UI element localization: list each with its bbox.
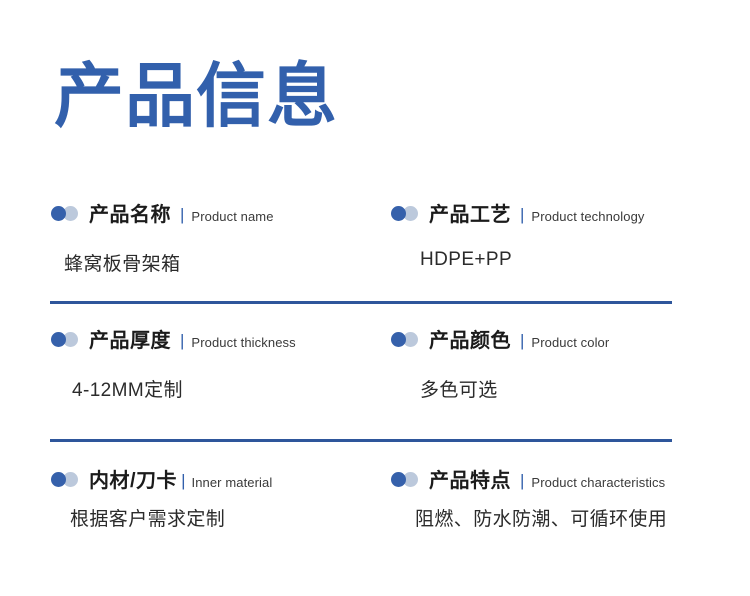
spec-label-line: 产品名称 | Product name	[50, 176, 345, 227]
label-separator: |	[520, 331, 524, 351]
spec-label-cn: 产品颜色	[429, 324, 511, 353]
spec-label-line: 产品工艺 | Product technology	[390, 176, 750, 227]
spec-item-product-thickness: 产品厚度 | Product thickness 4-12MM定制	[0, 302, 345, 440]
spec-row: 内材/刀卡 | Inner material 根据客户需求定制 产品特点 | P…	[0, 440, 750, 560]
spec-item-inner-material: 内材/刀卡 | Inner material 根据客户需求定制	[0, 440, 345, 560]
spec-label-cn: 产品工艺	[429, 198, 511, 227]
section-divider	[50, 301, 672, 304]
spec-label-en: Product technology	[531, 209, 644, 224]
spec-label-en: Product color	[531, 335, 609, 350]
spec-value: 根据客户需求定制	[50, 493, 345, 531]
spec-label-cn: 内材/刀卡	[89, 464, 177, 493]
spec-value: 多色可选	[390, 353, 750, 402]
spec-label-en: Product name	[191, 209, 273, 224]
label-separator: |	[520, 205, 524, 225]
spec-value: 4-12MM定制	[50, 353, 345, 402]
spec-item-product-characteristics: 产品特点 | Product characteristics 阻燃、防水防潮、可…	[345, 440, 750, 560]
spec-row: 产品厚度 | Product thickness 4-12MM定制 产品颜色 |…	[0, 302, 750, 440]
spec-label-en: Product thickness	[191, 335, 295, 350]
spec-label-line: 内材/刀卡 | Inner material	[50, 440, 345, 493]
section-divider	[50, 439, 672, 442]
label-separator: |	[520, 471, 524, 491]
double-circle-bullet-icon	[390, 472, 422, 487]
spec-value: 阻燃、防水防潮、可循环使用	[390, 493, 750, 531]
spec-item-product-technology: 产品工艺 | Product technology HDPE+PP	[345, 176, 750, 302]
page-title: 产品信息	[54, 52, 338, 140]
spec-item-product-color: 产品颜色 | Product color 多色可选	[345, 302, 750, 440]
label-separator: |	[180, 205, 184, 225]
double-circle-bullet-icon	[50, 472, 82, 487]
spec-label-line: 产品颜色 | Product color	[390, 302, 750, 353]
spec-value: HDPE+PP	[390, 227, 750, 271]
spec-label-line: 产品厚度 | Product thickness	[50, 302, 345, 353]
spec-value: 蜂窝板骨架箱	[50, 227, 345, 276]
spec-item-product-name: 产品名称 | Product name 蜂窝板骨架箱	[0, 176, 345, 302]
spec-label-cn: 产品厚度	[89, 324, 171, 353]
label-separator: |	[181, 471, 185, 491]
product-spec-grid: 产品名称 | Product name 蜂窝板骨架箱 产品工艺 | Produc…	[0, 176, 750, 560]
spec-row: 产品名称 | Product name 蜂窝板骨架箱 产品工艺 | Produc…	[0, 176, 750, 302]
spec-label-line: 产品特点 | Product characteristics	[390, 440, 750, 493]
double-circle-bullet-icon	[50, 206, 82, 221]
label-separator: |	[180, 331, 184, 351]
spec-label-cn: 产品特点	[429, 464, 511, 493]
double-circle-bullet-icon	[390, 332, 422, 347]
spec-label-en: Product characteristics	[531, 475, 665, 490]
double-circle-bullet-icon	[390, 206, 422, 221]
double-circle-bullet-icon	[50, 332, 82, 347]
spec-label-en: Inner material	[191, 475, 272, 490]
spec-label-cn: 产品名称	[89, 198, 171, 227]
